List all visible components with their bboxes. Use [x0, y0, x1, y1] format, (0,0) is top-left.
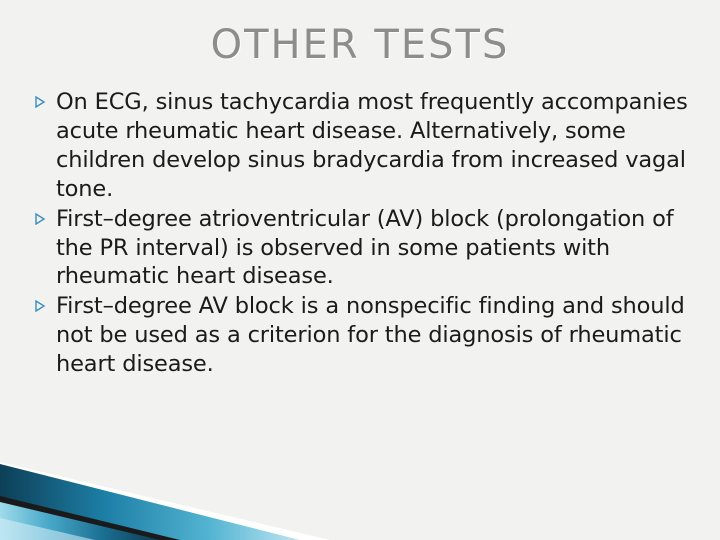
list-item: On ECG, sinus tachycardia most frequentl… [34, 88, 702, 204]
list-item-text: First–degree atrioventricular (AV) block… [56, 205, 702, 292]
list-item-text: On ECG, sinus tachycardia most frequentl… [56, 88, 702, 204]
page-title: OTHER TESTS [0, 22, 720, 68]
bullet-list: On ECG, sinus tachycardia most frequentl… [34, 88, 702, 380]
triangle-right-icon [34, 205, 56, 225]
triangle-right-icon [34, 88, 56, 108]
slide: OTHER TESTS On ECG, sinus tachycardia mo… [0, 0, 720, 540]
list-item: First–degree atrioventricular (AV) block… [34, 205, 702, 292]
list-item: First–degree AV block is a nonspecific f… [34, 292, 702, 379]
corner-ribbon-graphic [0, 430, 330, 540]
list-item-text: First–degree AV block is a nonspecific f… [56, 292, 702, 379]
triangle-right-icon [34, 292, 56, 312]
